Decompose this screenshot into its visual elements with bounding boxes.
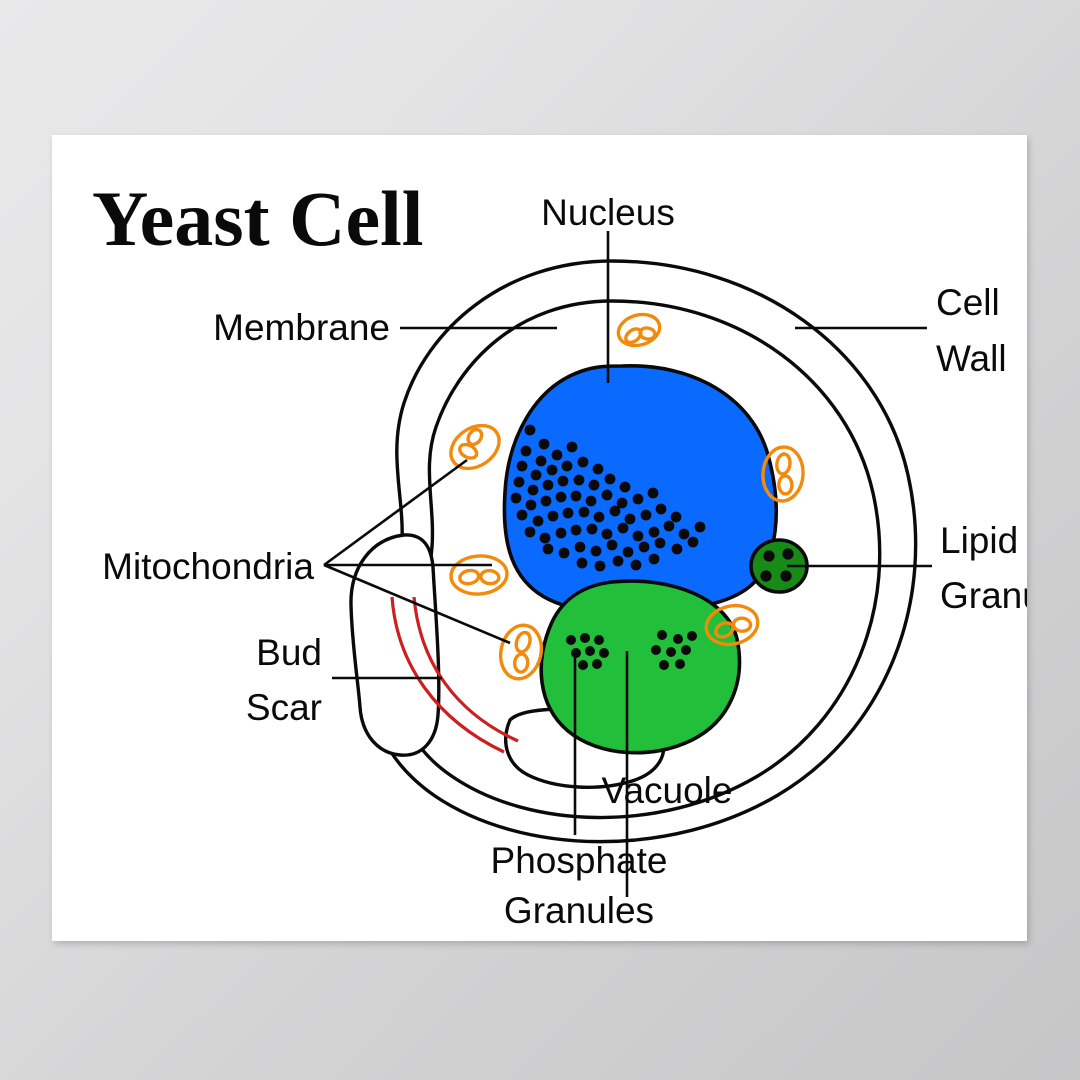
mitochondrion-mid-left: [450, 554, 509, 596]
label-bud-scar-line1: Bud: [256, 632, 322, 673]
label-cell-wall-line1: Cell: [936, 282, 1000, 323]
mitochondrion-top: [615, 310, 664, 350]
label-phosphate-granules-line2: Granules: [504, 890, 654, 931]
label-lipid-granule-line1: Lipid: [940, 520, 1018, 561]
label-vacuole: Vacuole: [602, 770, 733, 811]
nucleus: [504, 366, 776, 614]
yeast-cell-diagram: Yeast Cell: [52, 135, 1027, 941]
yeast-cell-poster: Yeast Cell: [52, 135, 1027, 941]
label-bud-scar-line2: Scar: [246, 687, 322, 728]
label-nucleus: Nucleus: [541, 192, 675, 233]
poster-stage: Yeast Cell: [0, 0, 1080, 1080]
page-title: Yeast Cell: [92, 175, 423, 262]
mitochondrion-lower-left: [496, 621, 546, 682]
label-membrane: Membrane: [213, 307, 390, 348]
label-lipid-granule-line2: Granule: [940, 575, 1027, 616]
label-mitochondria: Mitochondria: [102, 546, 314, 587]
label-cell-wall-line2: Wall: [936, 338, 1007, 379]
mitochondrion-upper-left: [443, 417, 507, 478]
vacuole: [541, 581, 739, 753]
label-phosphate-granules-line1: Phosphate: [491, 840, 668, 881]
